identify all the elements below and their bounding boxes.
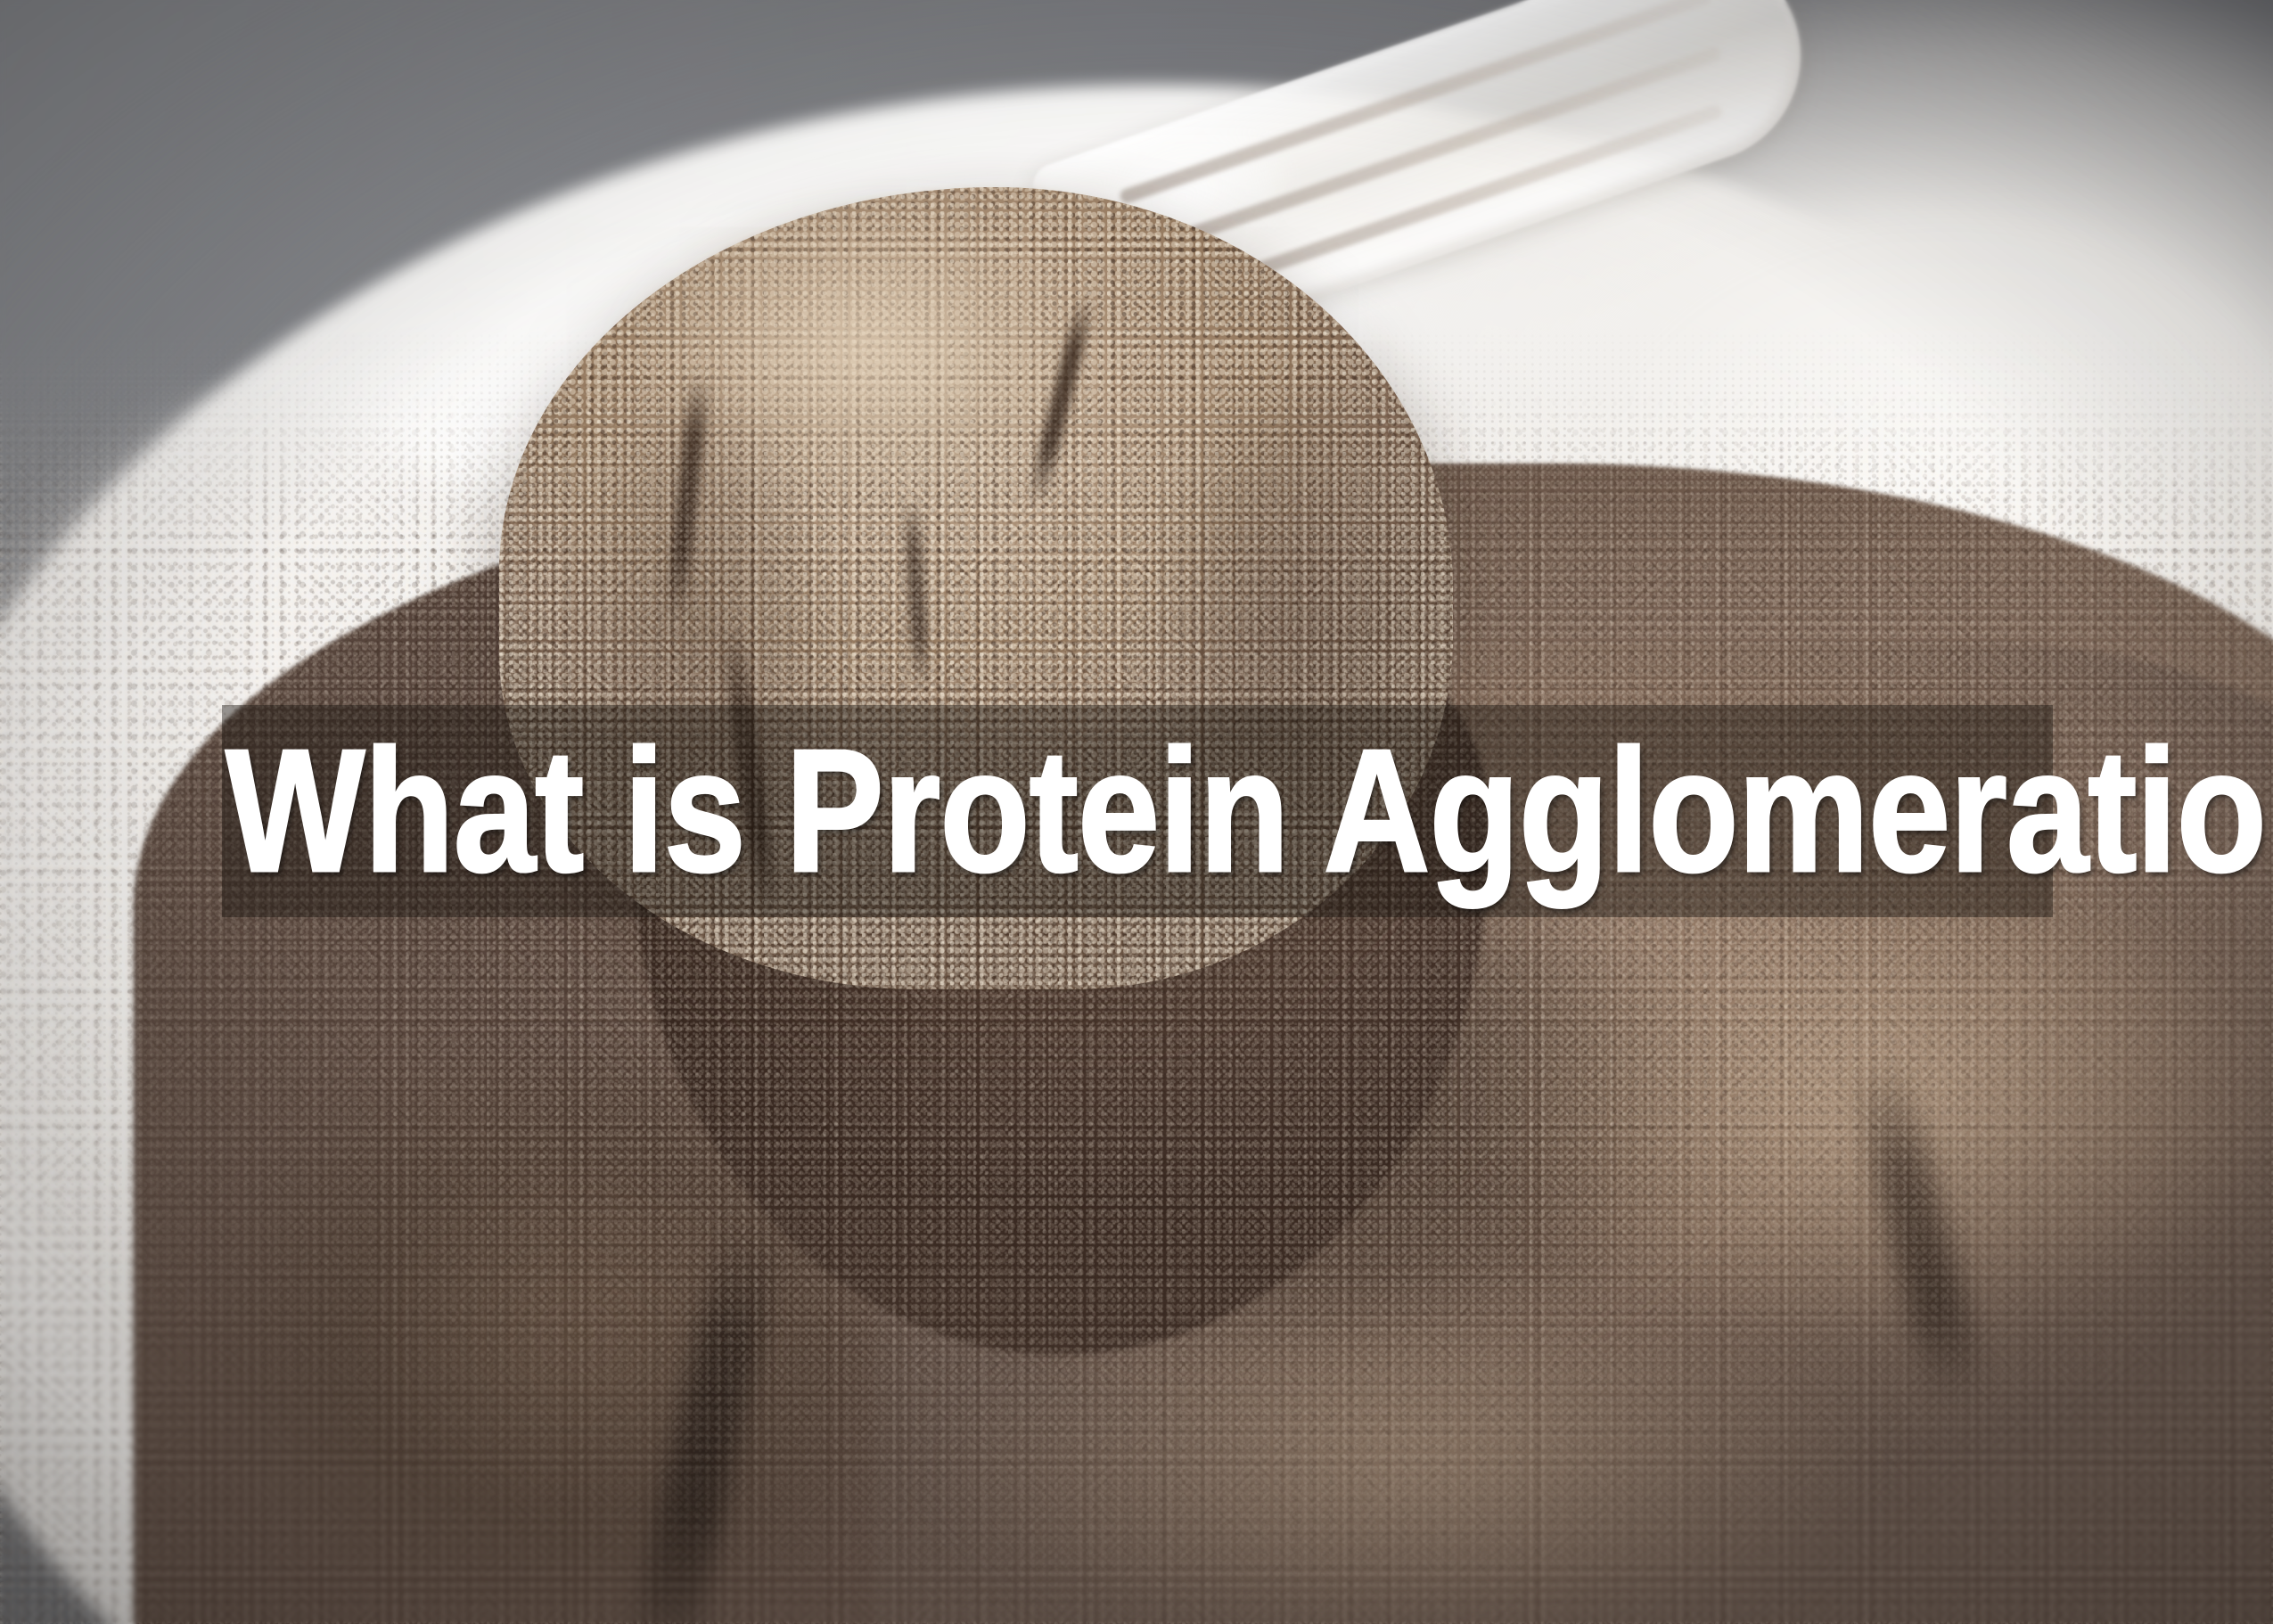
title-text: What is Protein Agglomeration? bbox=[226, 724, 2273, 898]
title-banner: What is Protein Agglomeration? bbox=[222, 705, 2053, 917]
photo-canvas: What is Protein Agglomeration? bbox=[0, 0, 2273, 1624]
